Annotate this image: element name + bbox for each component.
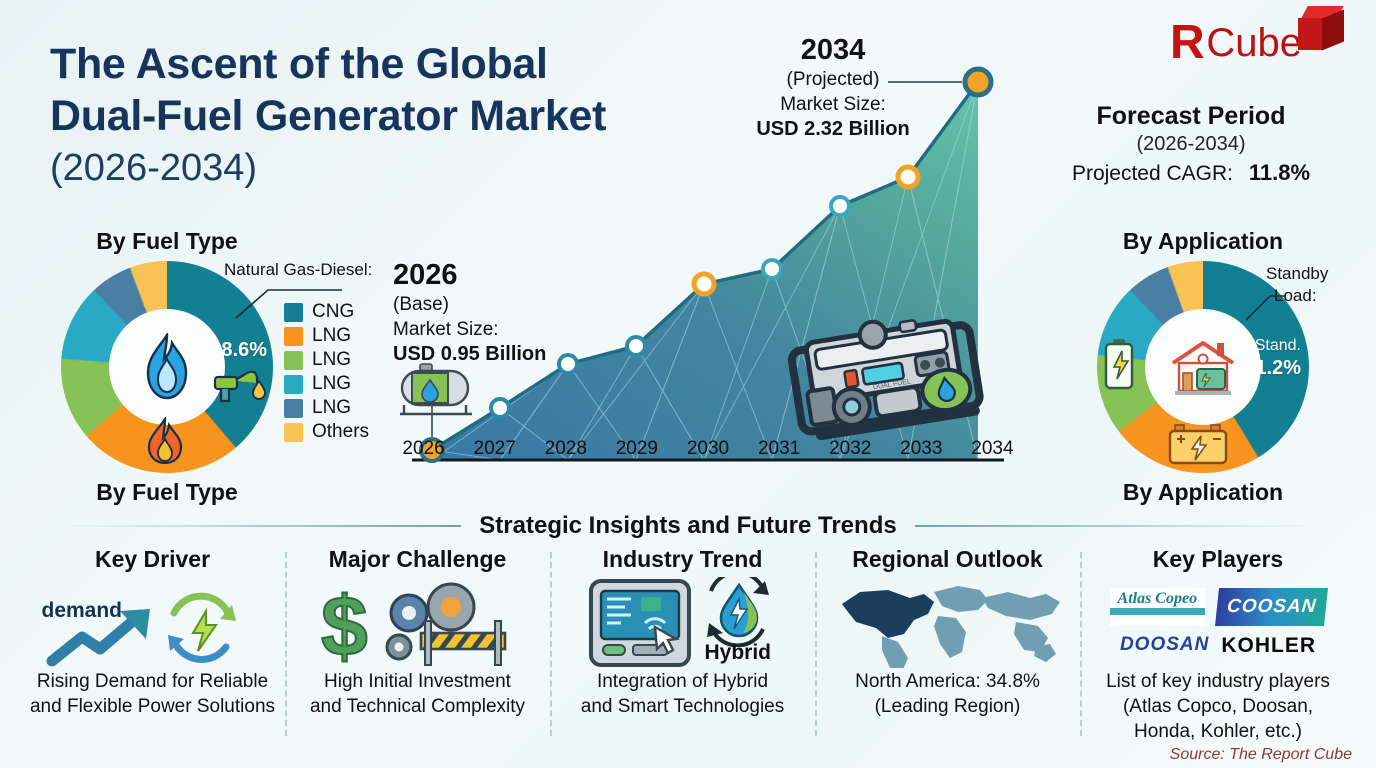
legend-item: LNG (284, 324, 369, 348)
label-phase-2026: (Base) (393, 294, 449, 315)
divider-right (915, 525, 1314, 527)
fuel-type-donut-chart: By Fuel Type 38.6% By (52, 228, 282, 506)
app-donut-heading: By Application (1088, 228, 1318, 255)
card-desc-line2: and Flexible Power Solutions (28, 694, 277, 719)
legend-label: Others (312, 421, 369, 443)
point-2029[interactable] (627, 337, 645, 355)
card-icons: $ (293, 577, 542, 669)
infographic-canvas: The Ascent of the Global Dual-Fuel Gener… (0, 0, 1376, 768)
point-2034[interactable] (965, 69, 991, 95)
card-desc-line3: Honda, Kohler, etc.) (1088, 719, 1348, 744)
legend-swatch (284, 327, 303, 346)
card-heading: Key Driver (28, 546, 277, 573)
car-battery-icon (1167, 423, 1229, 467)
app-donut-footer: By Application (1088, 479, 1318, 506)
app-center-label: Stand. (1255, 337, 1301, 355)
strategic-insights-header: Strategic Insights and Future Trends (0, 512, 1376, 540)
cagr-row: Projected CAGR: 11.8% (1036, 160, 1346, 186)
legend-item: LNG (284, 372, 369, 396)
point-2027[interactable] (491, 399, 509, 417)
logo-atlas-copco: Atlas Copeo (1110, 588, 1206, 626)
card-key-players: Key Players Atlas Copeo COOSAN DOOSAN KO… (1080, 546, 1356, 744)
lpg-tank-icon (398, 360, 480, 418)
brand-logo[interactable]: Я Cube (1170, 12, 1348, 74)
control-panel-icon (589, 579, 693, 667)
legend-item: Others (284, 420, 369, 444)
point-2030[interactable] (694, 274, 714, 294)
point-2033[interactable] (898, 167, 918, 187)
application-donut-chart: By Application Stand. 41.2% (1088, 228, 1318, 506)
card-desc-line1: High Initial Investment (293, 669, 542, 694)
card-desc-line1: North America: 34.8% (823, 669, 1072, 694)
card-icons (823, 577, 1072, 669)
forecast-period-block: Forecast Period (2026-2034) Projected CA… (1036, 102, 1346, 186)
card-heading: Industry Trend (558, 546, 807, 573)
app-callout-leader (1244, 288, 1288, 322)
challenge-icons-group: $ (313, 577, 523, 669)
card-desc-line2: (Atlas Copco, Doosan, (1088, 694, 1348, 719)
source-note: Source: The Report Cube (1170, 746, 1352, 764)
card-heading: Regional Outlook (823, 546, 1072, 573)
card-desc-line2: and Smart Technologies (558, 694, 807, 719)
battery-icon (1099, 337, 1139, 391)
card-heading: Key Players (1088, 546, 1348, 573)
world-map-icon (830, 578, 1065, 668)
dual-fuel-generator-icon: DUAL FUEL (770, 302, 1020, 482)
key-player-logos: Atlas Copeo COOSAN DOOSAN KOHLER (1088, 588, 1348, 658)
card-industry-trend: Industry Trend (550, 546, 815, 744)
brand-r-mark: Я (1170, 19, 1205, 67)
market-size-2034-label: 2034 (Projected) Market Size: USD 2.32 B… (738, 33, 928, 142)
up-arrow-icon (46, 605, 164, 667)
cagr-label: Projected CAGR: (1072, 162, 1233, 185)
fuel-donut-hole (113, 313, 221, 421)
legend-swatch (284, 423, 303, 442)
recycle-bolt-icon (156, 591, 248, 667)
point-2031[interactable] (763, 260, 781, 278)
gas-flame-icon (138, 333, 196, 401)
label-size-value-2026: USD 0.95 Billion (393, 343, 546, 365)
logo-doosan: DOOSAN (1120, 634, 1209, 658)
card-regional-outlook: Regional Outlook North America: 34.8% (L… (815, 546, 1080, 744)
divider-left (62, 525, 461, 527)
legend-label: LNG (312, 373, 351, 395)
hybrid-droplet-icon (695, 577, 783, 647)
fuel-donut-heading: By Fuel Type (52, 228, 282, 255)
x-tick-2028: 2028 (530, 438, 601, 460)
fuel-type-legend: CNG LNG LNG LNG LNG Others (284, 300, 369, 444)
card-major-challenge: Major Challenge $ (285, 546, 550, 744)
forecast-range: (2026-2034) (1036, 133, 1346, 156)
legend-label: LNG (312, 325, 351, 347)
app-callout-line1: Standby (1266, 264, 1328, 284)
card-desc-line1: List of key industry players (1088, 669, 1348, 694)
legend-swatch (284, 351, 303, 370)
label-phase-2034: (Projected) (787, 69, 880, 90)
strategic-heading: Strategic Insights and Future Trends (461, 512, 914, 540)
fuel-donut-footer: By Fuel Type (52, 479, 282, 506)
point-2032[interactable] (831, 197, 849, 215)
logo-kohler: KOHLER (1221, 634, 1316, 658)
card-key-driver: Key Driver demand (20, 546, 285, 744)
hybrid-icon-text: Hybrid (705, 641, 772, 665)
fuel-nozzle-icon (211, 365, 269, 411)
card-icons: demand (28, 577, 277, 669)
svg-text:$: $ (321, 579, 368, 669)
card-desc-line1: Integration of Hybrid (558, 669, 807, 694)
forecast-heading: Forecast Period (1036, 102, 1346, 131)
app-donut-hole (1149, 313, 1257, 421)
x-tick-2026: 2026 (388, 438, 459, 460)
card-heading: Major Challenge (293, 546, 542, 573)
card-desc-line1: Rising Demand for Reliable (28, 669, 277, 694)
x-tick-2027: 2027 (459, 438, 530, 460)
card-icons: Atlas Copeo COOSAN DOOSAN KOHLER (1088, 577, 1348, 669)
x-tick-2029: 2029 (601, 438, 672, 460)
legend-swatch (284, 303, 303, 322)
legend-label: LNG (312, 397, 351, 419)
legend-item: LNG (284, 396, 369, 420)
red-cube-icon (1296, 6, 1348, 58)
logo-coosan: COOSAN (1215, 588, 1328, 626)
legend-label: LNG (312, 349, 351, 371)
label-size-text-2026: Market Size: (393, 319, 499, 340)
house-generator-icon (1165, 335, 1241, 399)
legend-item: LNG (284, 348, 369, 372)
flame-icon (143, 417, 187, 465)
legend-swatch (284, 399, 303, 418)
label-size-value-2034: USD 2.32 Billion (756, 118, 909, 140)
label-year-2026: 2026 (393, 258, 546, 292)
x-tick-2030: 2030 (672, 438, 743, 460)
legend-item: CNG (284, 300, 369, 324)
label-year-2034: 2034 (738, 33, 928, 67)
label-size-text-2034: Market Size: (780, 94, 886, 115)
legend-label: CNG (312, 301, 354, 323)
card-desc-line2: (Leading Region) (823, 694, 1072, 719)
market-size-2026-label: 2026 (Base) Market Size: USD 0.95 Billio… (393, 258, 546, 367)
logo-atlas-copco-text: Atlas Copeo (1110, 588, 1206, 609)
dollar-sign-icon: $ (321, 579, 368, 669)
card-icons: Hybrid (558, 577, 807, 669)
cagr-value: 11.8% (1249, 160, 1310, 185)
brand-word: Cube (1206, 23, 1302, 63)
card-desc-line2: and Technical Complexity (293, 694, 542, 719)
point-2028[interactable] (559, 355, 577, 373)
legend-swatch (284, 375, 303, 394)
strategic-cards-row: Key Driver demand (0, 546, 1376, 744)
